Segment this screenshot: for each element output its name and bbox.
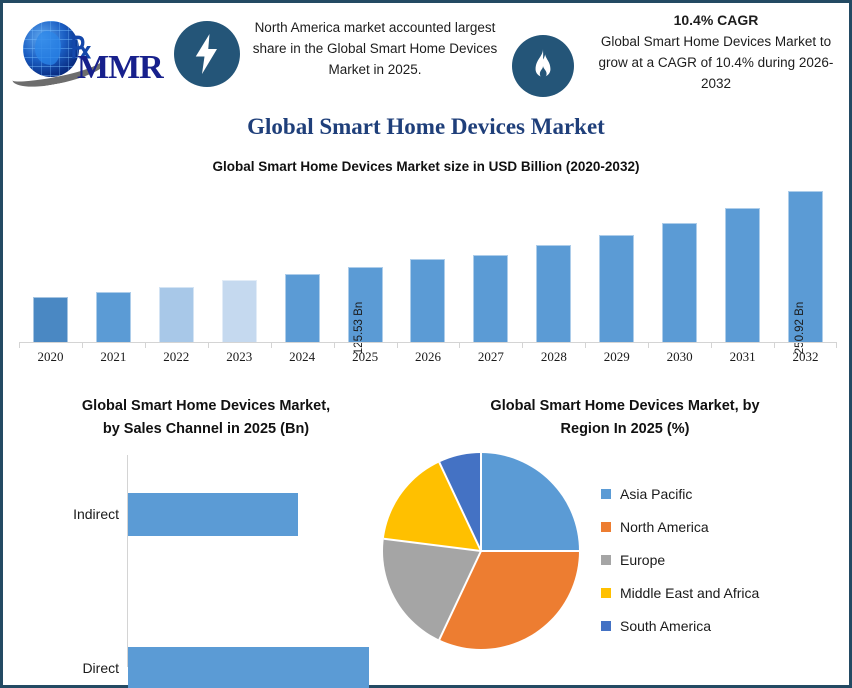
bar-column [271,179,334,343]
region-pie-title-line2: Region In 2025 (%) [401,418,849,441]
x-axis-label-2022: 2022 [145,349,208,365]
legend-item-north-america[interactable]: North America [601,510,841,543]
x-tick [82,343,83,348]
legend-item-europe[interactable]: Europe [601,543,841,576]
bar-2025: 125.53 Bn [348,267,383,343]
x-axis-label-2030: 2030 [648,349,711,365]
bar-2026 [410,259,445,343]
header-band: ℞ MMR North America market accounted lar… [3,3,849,113]
x-tick [711,343,712,348]
mmr-logo: ℞ MMR [11,17,171,91]
x-tick [19,343,20,348]
bar-value-label: 125.53 Bn [353,302,365,354]
bar-x-axis [19,342,837,343]
bar-chart-title: Global Smart Home Devices Market size in… [3,159,849,174]
x-tick [774,343,775,348]
north-america-note: North America market accounted largest s… [246,17,504,80]
bar-2020 [33,297,68,343]
region-share-pie: Global Smart Home Devices Market, by Reg… [401,395,849,680]
x-axis-label-2026: 2026 [397,349,460,365]
infographic-page: ℞ MMR North America market accounted lar… [0,0,852,688]
legend-label: Middle East and Africa [620,585,759,601]
sales-channel-title-line1: Global Smart Home Devices Market, [11,395,401,418]
bar-column [208,179,271,343]
sales-channel-title-line2: by Sales Channel in 2025 (Bn) [11,418,401,441]
bar-2032: 250.92 Bn [788,191,823,343]
legend-item-asia-pacific[interactable]: Asia Pacific [601,477,841,510]
sales-plot-area: IndirectDirect [11,455,401,670]
bar-column: 125.53 Bn [334,179,397,343]
bar-2031 [725,208,760,343]
sales-channel-title: Global Smart Home Devices Market, by Sal… [11,395,401,441]
bar-2028 [536,245,571,343]
x-tick [585,343,586,348]
bar-column [397,179,460,343]
pie-slice-divider [481,550,579,552]
x-axis-label-2032: 2032 [774,349,837,365]
x-axis-label-2023: 2023 [208,349,271,365]
legend-item-south-america[interactable]: South America [601,609,841,642]
pie-slice-divider [480,453,482,551]
hbar-label-direct: Direct [11,660,119,676]
x-tick [397,343,398,348]
pie-graphic [383,453,579,649]
bar-value-label: 250.92 Bn [794,302,806,354]
x-axis-label-2031: 2031 [711,349,774,365]
legend-label: Europe [620,552,665,568]
logo-brand-text: MMR [77,49,163,87]
x-tick [208,343,209,348]
legend-label: Asia Pacific [620,486,692,502]
hbar-direct [128,647,369,688]
x-axis-label-2027: 2027 [459,349,522,365]
bar-column [459,179,522,343]
x-tick [648,343,649,348]
x-axis-label-2020: 2020 [19,349,82,365]
x-tick [522,343,523,348]
bar-column [522,179,585,343]
legend-item-middle-east-and-africa[interactable]: Middle East and Africa [601,576,841,609]
x-tick [145,343,146,348]
bar-2023 [222,280,257,343]
region-pie-title: Global Smart Home Devices Market, by Reg… [401,395,849,441]
market-size-bar-chart: 125.53 Bn250.92 Bn 202020212022202320242… [19,179,837,369]
bar-2029 [599,235,634,343]
bar-2024 [285,274,320,343]
flame-icon [512,35,574,97]
hbar-label-indirect: Indirect [11,506,119,522]
bar-plot-area: 125.53 Bn250.92 Bn [19,179,837,343]
x-axis-label-2029: 2029 [585,349,648,365]
x-axis-label-2028: 2028 [522,349,585,365]
sales-y-axis [127,455,128,667]
bar-column [711,179,774,343]
legend-swatch-icon [601,555,611,565]
x-axis-label-2025: 2025 [334,349,397,365]
bar-column [19,179,82,343]
legend-swatch-icon [601,588,611,598]
x-tick [836,179,837,343]
x-tick [334,343,335,348]
x-tick-mark [836,343,837,348]
x-axis-label-2021: 2021 [82,349,145,365]
bar-column [648,179,711,343]
legend-label: South America [620,618,711,634]
pie-legend: Asia PacificNorth AmericaEuropeMiddle Ea… [601,477,841,642]
legend-label: North America [620,519,709,535]
bar-2030 [662,223,697,343]
lightning-bolt-icon [174,21,240,87]
legend-swatch-icon [601,621,611,631]
legend-swatch-icon [601,489,611,499]
bar-column: 250.92 Bn [774,179,837,343]
x-tick [459,343,460,348]
x-tick [271,343,272,348]
page-title: Global Smart Home Devices Market [3,114,849,140]
sales-channel-chart: Global Smart Home Devices Market, by Sal… [11,395,401,680]
bar-2022 [159,287,194,343]
bar-column [82,179,145,343]
cagr-value: 10.4% CAGR [587,10,845,31]
cagr-description: Global Smart Home Devices Market to grow… [599,34,834,91]
hbar-indirect [128,493,298,536]
bar-2021 [96,292,131,343]
legend-swatch-icon [601,522,611,532]
cagr-note: 10.4% CAGR Global Smart Home Devices Mar… [587,10,845,94]
bar-column [585,179,648,343]
bar-column [145,179,208,343]
x-axis-label-2024: 2024 [271,349,334,365]
region-pie-title-line1: Global Smart Home Devices Market, by [401,395,849,418]
bar-2027 [473,255,508,343]
